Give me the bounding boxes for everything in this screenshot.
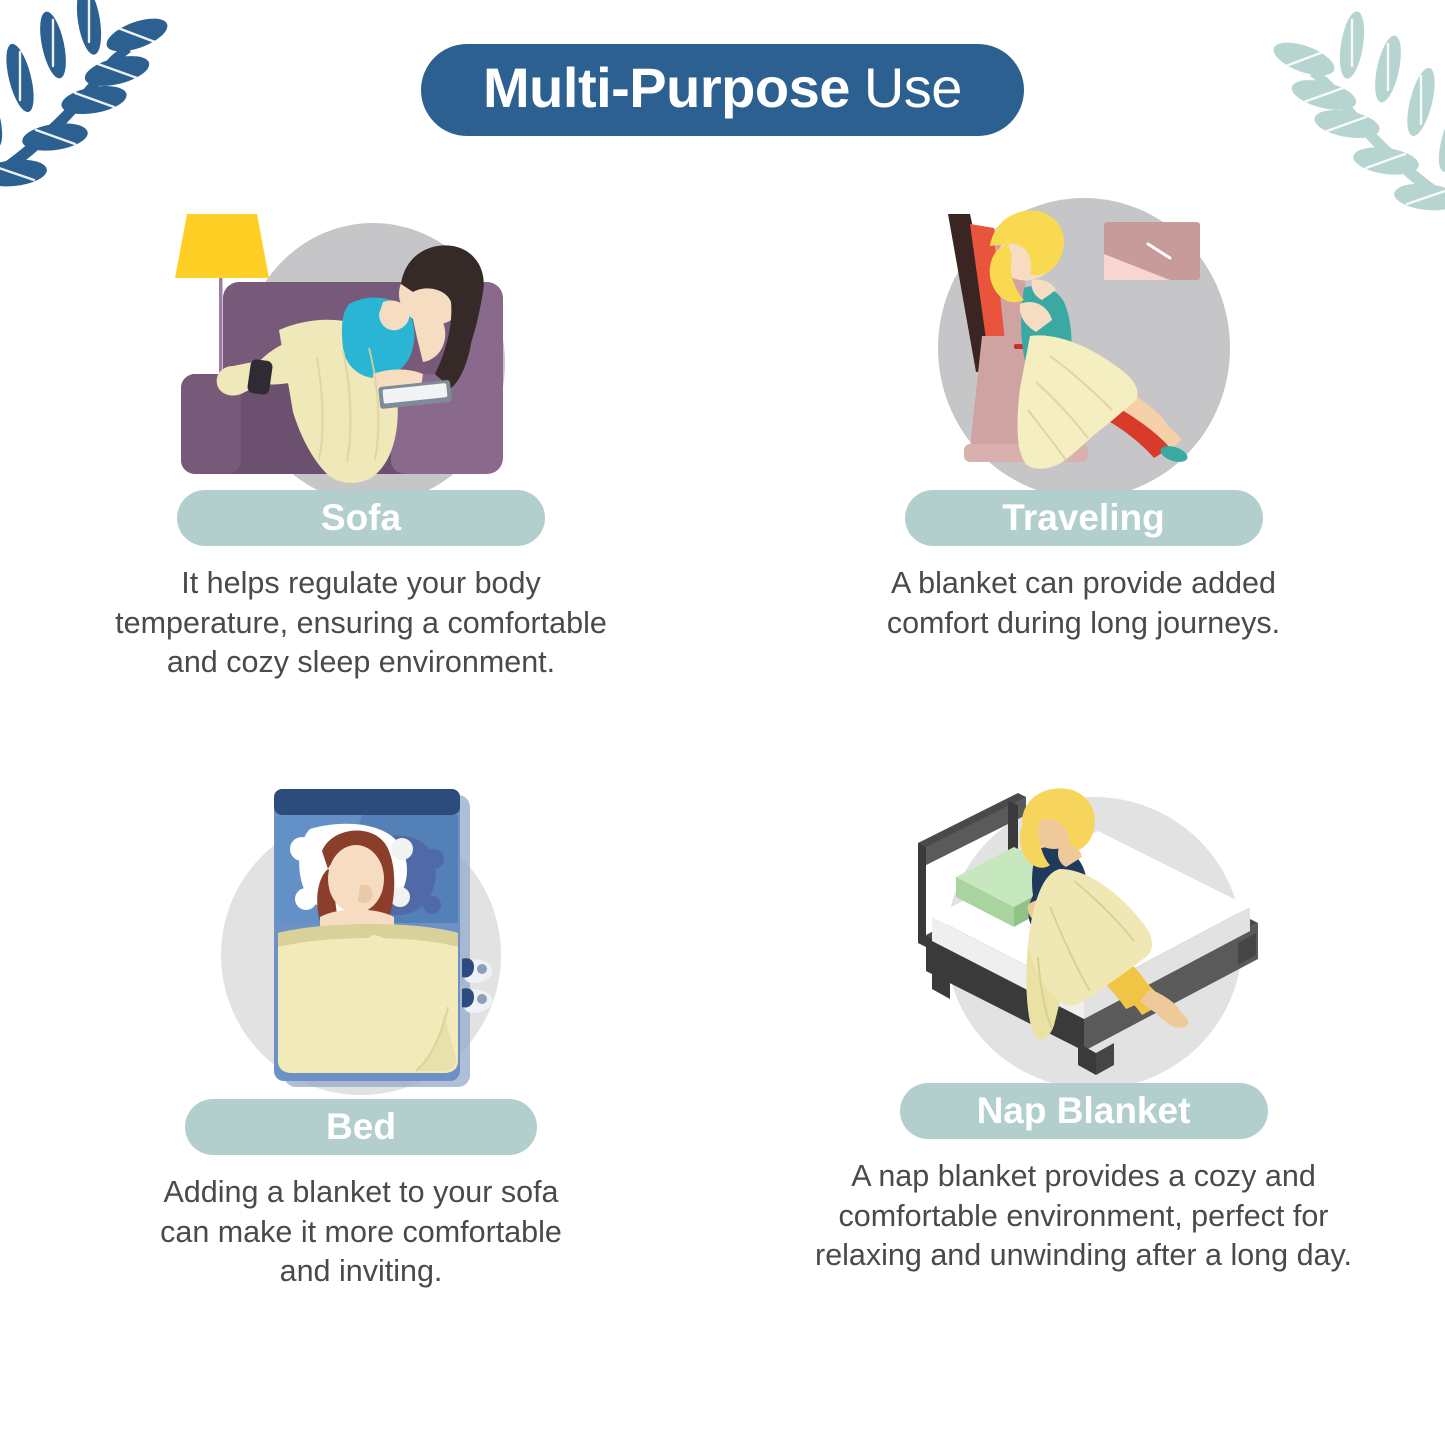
card-description-nap-blanket: A nap blanket provides a cozy and comfor… <box>815 1157 1352 1276</box>
airplane-recliner-scene-icon <box>908 196 1260 508</box>
card-label-text: Bed <box>326 1106 396 1148</box>
card-nap-blanket[interactable]: Nap Blanket A nap blanket provides a coz… <box>722 755 1445 1315</box>
page-title-light: Use <box>864 60 962 116</box>
card-bed[interactable]: Bed Adding a blanket to your sofa can ma… <box>0 755 722 1315</box>
card-label-text: Nap Blanket <box>977 1090 1191 1132</box>
bed-isometric-scene-icon <box>888 775 1280 1093</box>
page-title-container: Multi-Purpose Use <box>0 44 1445 136</box>
card-description-bed: Adding a blanket to your sofa can make i… <box>160 1173 562 1292</box>
sofa-scene-icon <box>161 198 561 508</box>
card-sofa[interactable]: Sofa It helps regulate your body tempera… <box>0 190 722 755</box>
bed-topdown-scene-icon <box>186 775 536 1105</box>
card-label-text: Traveling <box>1002 497 1164 539</box>
page-title-strong: Multi-Purpose <box>483 60 850 116</box>
card-label-text: Sofa <box>321 497 401 539</box>
card-description-sofa: It helps regulate your body temperature,… <box>115 564 607 683</box>
cards-grid: Sofa It helps regulate your body tempera… <box>0 190 1445 1315</box>
card-label-nap-blanket: Nap Blanket <box>900 1083 1268 1139</box>
card-label-sofa: Sofa <box>177 490 545 546</box>
card-traveling[interactable]: Traveling A blanket can provide added co… <box>722 190 1445 755</box>
card-label-traveling: Traveling <box>905 490 1263 546</box>
card-label-bed: Bed <box>185 1099 537 1155</box>
card-description-traveling: A blanket can provide added comfort duri… <box>887 564 1280 643</box>
page-title-pill: Multi-Purpose Use <box>421 44 1024 136</box>
